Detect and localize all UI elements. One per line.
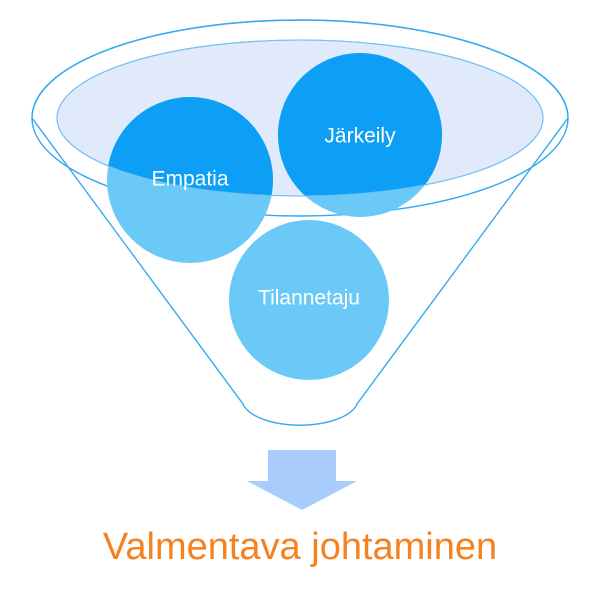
funnel-diagram-canvas: Empatia Järkeily Tilannetaju Valmentava …: [0, 0, 600, 592]
circle-tilannetaju-base[interactable]: [229, 220, 389, 380]
down-arrow-icon: [247, 450, 357, 510]
outcome-label: Valmentava johtaminen: [103, 526, 497, 568]
funnel-diagram: Empatia Järkeily Tilannetaju Valmentava …: [0, 0, 600, 592]
